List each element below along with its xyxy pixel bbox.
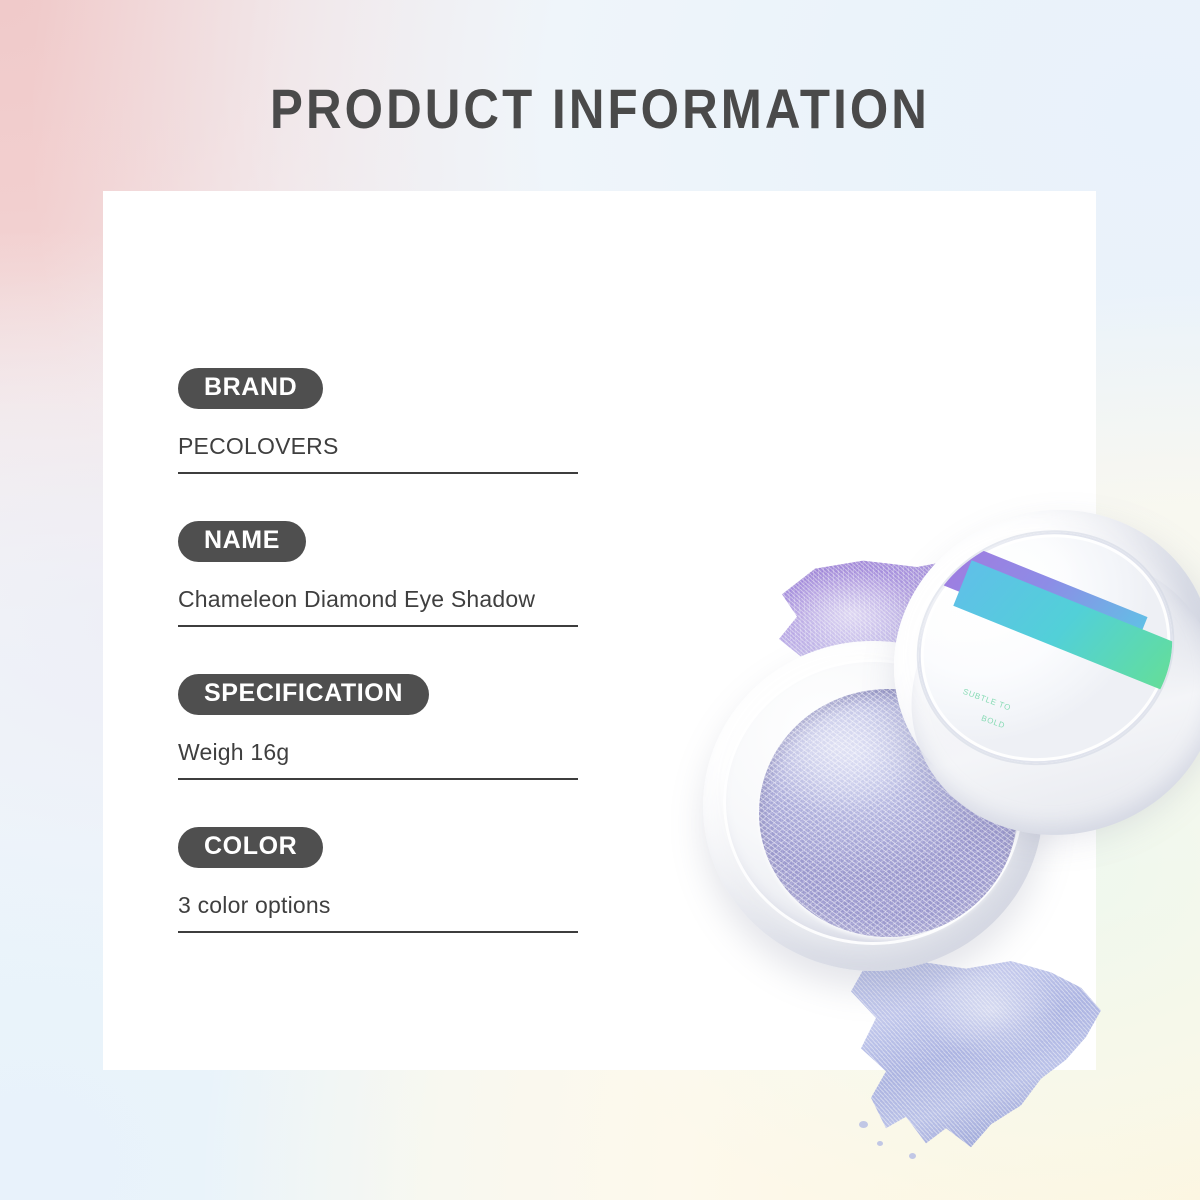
spec-value-name: Chameleon Diamond Eye Shadow: [178, 584, 598, 625]
product-photo: PECOLOVERS Diamond Chameleon! SUBTLE TO …: [663, 341, 1200, 981]
infographic-page: PRODUCT INFORMATION BRAND PECOLOVERS NAM…: [0, 0, 1200, 1200]
spec-divider-brand: [178, 472, 578, 474]
page-title: PRODUCT INFORMATION: [72, 78, 1128, 140]
powder-fleck: [909, 1153, 916, 1159]
spec-label-name: NAME: [178, 521, 306, 562]
spec-divider-specification: [178, 778, 578, 780]
lid-fine-print-line-1: SUBTLE TO: [961, 687, 1012, 713]
spec-divider-name: [178, 625, 578, 627]
spec-row-color: COLOR 3 color options: [178, 827, 598, 933]
spec-value-brand: PECOLOVERS: [178, 431, 598, 472]
spec-label-brand: BRAND: [178, 368, 323, 409]
content-card: BRAND PECOLOVERS NAME Chameleon Diamond …: [103, 191, 1096, 1070]
lid-fine-print-line-2: BOLD: [980, 714, 1006, 731]
spec-list: BRAND PECOLOVERS NAME Chameleon Diamond …: [178, 368, 598, 933]
spec-value-specification: Weigh 16g: [178, 737, 598, 778]
spec-divider-color: [178, 931, 578, 933]
spec-label-color: COLOR: [178, 827, 323, 868]
spec-row-name: NAME Chameleon Diamond Eye Shadow: [178, 521, 598, 627]
spec-value-color: 3 color options: [178, 890, 598, 931]
spec-row-brand: BRAND PECOLOVERS: [178, 368, 598, 474]
powder-fleck: [931, 1133, 936, 1137]
spec-label-specification: SPECIFICATION: [178, 674, 429, 715]
spec-row-specification: SPECIFICATION Weigh 16g: [178, 674, 598, 780]
powder-fleck: [859, 1121, 868, 1128]
powder-fleck: [877, 1141, 883, 1146]
